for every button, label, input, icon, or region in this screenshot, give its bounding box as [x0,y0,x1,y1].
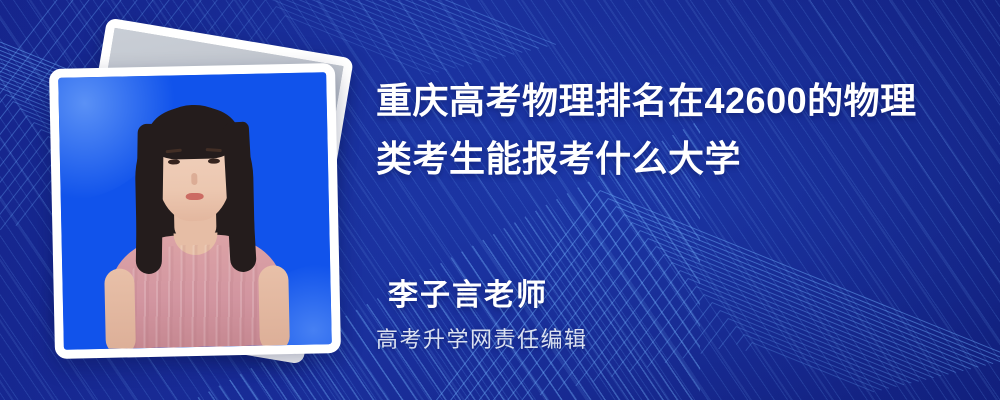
portrait-nose [191,173,197,185]
portrait-hair-left [136,124,164,274]
author-photo [58,72,332,350]
portrait-eye-left [168,159,180,164]
portrait-mouth [186,193,204,200]
portrait-eye-right [208,158,220,163]
author-name: 李子言老师 [388,270,548,314]
portrait-arm-left [104,268,136,349]
portrait-illustration [58,72,332,350]
photo-card-front [49,63,341,359]
portrait-photo-stack [52,38,352,360]
portrait-arm-right [258,265,290,350]
banner-title: 重庆高考物理排名在42600的物理类考生能报考什么大学 [376,72,948,188]
text-column: 重庆高考物理排名在42600的物理类考生能报考什么大学 李子言老师 高考升学网责… [376,0,976,400]
author-role: 高考升学网责任编辑 [376,322,588,354]
article-cover-banner: 重庆高考物理排名在42600的物理类考生能报考什么大学 李子言老师 高考升学网责… [0,0,1000,400]
